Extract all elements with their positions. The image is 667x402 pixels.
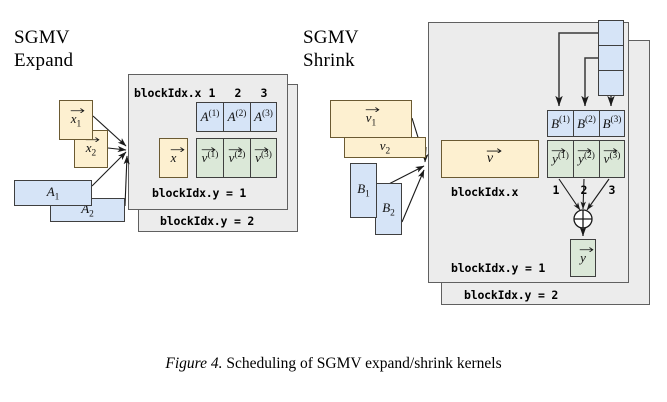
shrink-y-cell-2: y(2) xyxy=(573,140,599,178)
shrink-y-row: y(1) y(2) v(3) xyxy=(547,140,625,178)
shrink-tick-1: 1 xyxy=(548,183,564,197)
vector-arrow-icon xyxy=(579,246,594,252)
shrink-output-y-block: y xyxy=(570,239,596,277)
shrink-tick-2: 2 xyxy=(576,183,592,197)
shrink-y-cell-3: v(3) xyxy=(599,140,625,178)
expand-v-cell-2: v(2) xyxy=(223,138,250,178)
figure-caption: Figure 4. Scheduling of SGMV expand/shri… xyxy=(0,355,667,373)
expand-v-row: v(1) v(2) v(3) xyxy=(196,138,277,178)
expand-input-x1: x1 xyxy=(59,100,93,140)
shrink-stack-block-2 xyxy=(598,45,624,71)
vector-arrow-icon xyxy=(365,106,380,112)
expand-blockidx-x-label: blockIdx.x xyxy=(134,86,201,100)
vector-arrow-icon xyxy=(486,147,502,153)
shrink-stack-block-3 xyxy=(598,70,624,96)
shrink-b-cell-3: B(3) xyxy=(599,110,625,137)
expand-a-row: A(1) A(2) A(3) xyxy=(196,102,277,132)
expand-v-cell-3: v(3) xyxy=(250,138,277,178)
shrink-v-vector-block: v xyxy=(441,140,539,178)
shrink-input-v2: v2 xyxy=(344,137,426,158)
expand-input-A1: A1 xyxy=(14,180,92,206)
shrink-blockidx-y-back-label: blockIdx.y = 2 xyxy=(464,288,558,302)
shrink-stack-block-1 xyxy=(598,20,624,46)
figure-caption-text: Scheduling of SGMV expand/shrink kernels xyxy=(226,355,501,372)
expand-tick-3: 3 xyxy=(253,86,275,100)
expand-v-cell-1: v(1) xyxy=(196,138,223,178)
shrink-blockidx-y-front-label: blockIdx.y = 1 xyxy=(451,261,545,275)
expand-tick-2: 2 xyxy=(227,86,249,100)
shrink-b-row: B(1) B(2) B(3) xyxy=(547,110,625,137)
shrink-b-cell-1: B(1) xyxy=(547,110,573,137)
expand-a-cell-3: A(3) xyxy=(250,102,277,132)
shrink-input-v1: v1 xyxy=(330,100,412,138)
expand-tick-1: 1 xyxy=(201,86,223,100)
shrink-input-B1: B1 xyxy=(350,163,377,218)
vector-arrow-icon xyxy=(170,146,185,152)
shrink-tick-3: 3 xyxy=(604,183,620,197)
expand-title: SGMV Expand xyxy=(14,26,73,72)
expand-blockidx-y-front-label: blockIdx.y = 1 xyxy=(152,186,246,200)
vector-arrow-icon xyxy=(70,107,85,113)
shrink-title: SGMV Shrink xyxy=(303,26,359,72)
expand-x-vector-block: x xyxy=(159,138,188,178)
shrink-b-cell-2: B(2) xyxy=(573,110,599,137)
figure-number: Figure 4. xyxy=(165,355,222,372)
expand-blockidx-y-back-label: blockIdx.y = 2 xyxy=(160,214,254,228)
expand-a-cell-2: A(2) xyxy=(223,102,250,132)
shrink-input-B2: B2 xyxy=(375,183,402,235)
shrink-y-cell-1: y(1) xyxy=(547,140,573,178)
expand-a-cell-1: A(1) xyxy=(196,102,223,132)
figure-4-diagram: SGMV Expand blockIdx.y = 2 blockIdx.y = … xyxy=(0,0,667,402)
shrink-blockidx-x-label: blockIdx.x xyxy=(451,185,518,199)
